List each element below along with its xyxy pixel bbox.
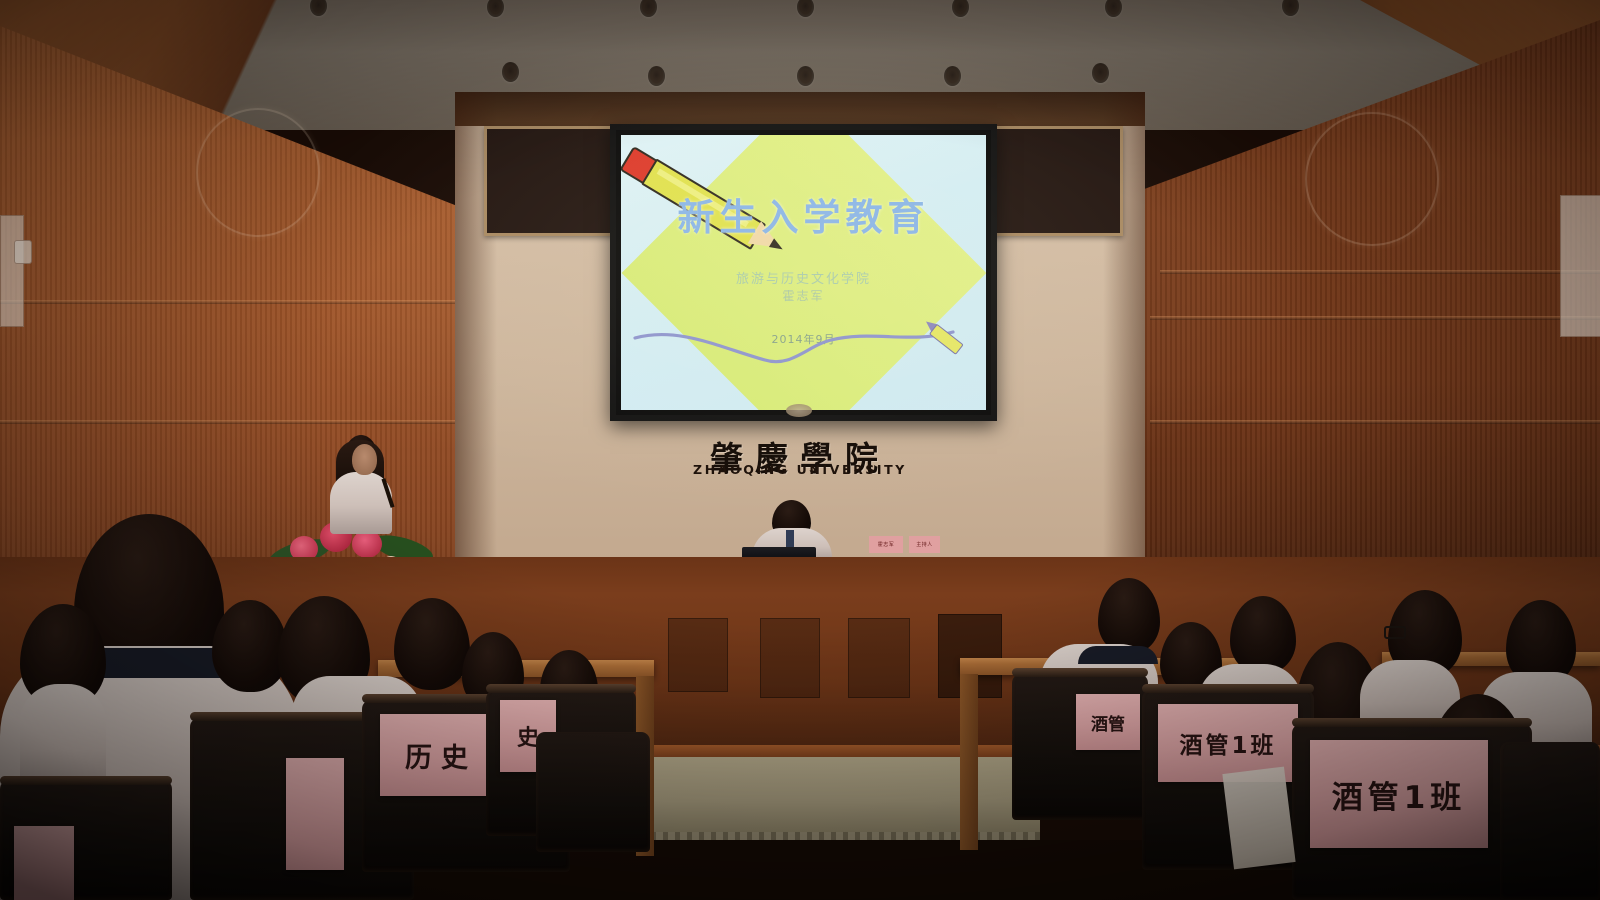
wall-seam-left bbox=[0, 300, 455, 304]
stage-panel bbox=[668, 618, 728, 692]
audience-glasses bbox=[1384, 626, 1406, 639]
flower-red bbox=[352, 530, 382, 558]
recessed-downlight bbox=[1092, 63, 1109, 83]
seat-top-rail bbox=[0, 776, 172, 785]
wall-seam-right bbox=[1150, 316, 1600, 320]
seat-top-rail bbox=[486, 684, 636, 693]
wall-mounted-sign-left bbox=[0, 215, 24, 327]
wall-seam-right bbox=[1150, 420, 1600, 424]
slide-wavy-line bbox=[631, 320, 961, 376]
name-card-host: 主持人 bbox=[909, 536, 940, 553]
acoustic-panel-left bbox=[484, 126, 618, 236]
slide-presenter-name: 霍志军 bbox=[621, 287, 986, 304]
seat-top-rail bbox=[1142, 684, 1314, 693]
name-card-speaker: 霍志军 bbox=[869, 536, 903, 553]
seat-placard bbox=[14, 826, 74, 900]
wall-decoration-circle-left bbox=[196, 108, 320, 237]
stage-panel bbox=[760, 618, 820, 698]
acoustic-panel-right bbox=[985, 126, 1123, 236]
slide-subtitle: 旅游与历史文化学院 bbox=[621, 268, 986, 287]
wall-seam-left bbox=[0, 420, 455, 424]
seat-placard: 酒管1班 bbox=[1310, 740, 1488, 848]
recessed-downlight bbox=[502, 62, 519, 82]
seat-placard: 酒管 bbox=[1076, 694, 1140, 750]
wall-mounted-sign-right bbox=[1560, 195, 1600, 337]
handout-paper bbox=[1222, 767, 1295, 870]
wall-seam-right bbox=[1160, 270, 1600, 274]
recessed-downlight bbox=[648, 66, 665, 86]
projection-screen: 新生入学教育 旅游与历史文化学院 霍志军 2014年9月 bbox=[610, 124, 997, 421]
university-logo-english: ZHAOQING UNIVERSITY bbox=[0, 462, 1600, 477]
seat[interactable] bbox=[1500, 742, 1600, 900]
seat-top-rail bbox=[1012, 668, 1148, 677]
wall-emblem-dot bbox=[786, 404, 812, 417]
seat[interactable] bbox=[536, 732, 650, 852]
front-wall-header-band bbox=[455, 92, 1145, 126]
auditorium-photo: 新生入学教育 旅游与历史文化学院 霍志军 2014年9月 肇慶學院 ZHAOQI… bbox=[0, 0, 1600, 900]
presentation-slide: 新生入学教育 旅游与历史文化学院 霍志军 2014年9月 bbox=[621, 135, 986, 410]
seat-placard: 历史 bbox=[380, 714, 502, 796]
stage-panel bbox=[848, 618, 910, 698]
recessed-downlight bbox=[944, 66, 961, 86]
wall-speaker-left bbox=[14, 240, 32, 264]
slide-title: 新生入学教育 bbox=[621, 187, 986, 241]
seat-top-rail bbox=[1292, 718, 1532, 727]
audience-collar bbox=[1078, 646, 1158, 664]
wall-decoration-circle-right bbox=[1305, 112, 1439, 246]
recessed-downlight bbox=[797, 66, 814, 86]
seat-placard bbox=[286, 758, 344, 870]
desk-leg-right bbox=[960, 674, 978, 850]
podium-speaker-face bbox=[352, 444, 377, 475]
